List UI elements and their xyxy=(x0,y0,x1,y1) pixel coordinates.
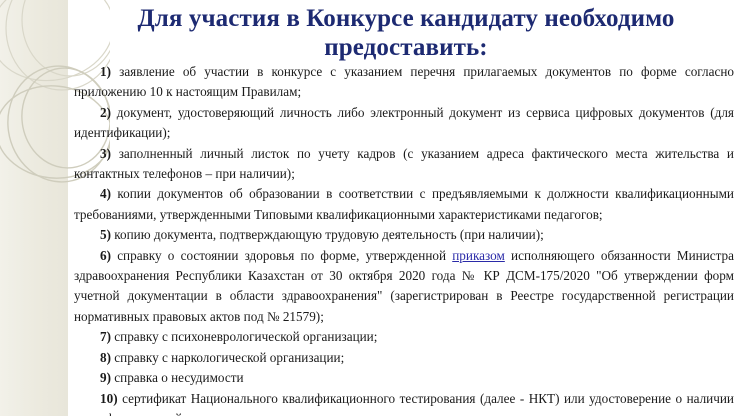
slide-title: Для участия в Конкурсе кандидату необход… xyxy=(96,4,716,62)
item-text: справку с наркологической организации; xyxy=(111,350,344,365)
item-text: справка о несудимости xyxy=(111,370,244,385)
title-line-1: Для участия в Конкурсе кандидату необход… xyxy=(96,4,716,33)
item-number: 1) xyxy=(100,64,111,79)
item-number: 8) xyxy=(100,350,111,365)
item-text: копии документов об образовании в соотве… xyxy=(74,186,734,221)
title-line-2: предоставить: xyxy=(96,33,716,62)
list-item: 2) документ, удостоверяющий личность либ… xyxy=(74,103,734,144)
item-text: копию документа, подтверждающую трудовую… xyxy=(111,227,544,242)
item-text: документ, удостоверяющий личность либо э… xyxy=(74,105,734,140)
item-text: заполненный личный листок по учету кадро… xyxy=(74,146,734,181)
item-number: 2) xyxy=(100,105,111,120)
presentation-slide: Для участия в Конкурсе кандидату необход… xyxy=(0,0,739,416)
list-item: 4) копии документов об образовании в соо… xyxy=(74,184,734,225)
list-item: 10) сертификат Национального квалификаци… xyxy=(74,389,734,416)
item-number: 3) xyxy=(100,146,111,161)
list-item: 6) справку о состоянии здоровья по форме… xyxy=(74,246,734,328)
list-item: 5) копию документа, подтверждающую трудо… xyxy=(74,225,734,245)
item-number: 10) xyxy=(100,391,118,406)
list-item: 9) справка о несудимости xyxy=(74,368,734,388)
item-number: 7) xyxy=(100,329,111,344)
item-text: справку с психоневрологической организац… xyxy=(111,329,377,344)
item-number: 6) xyxy=(100,248,111,263)
list-item: 3) заполненный личный листок по учету ка… xyxy=(74,144,734,185)
list-item: 1) заявление об участии в конкурсе с ука… xyxy=(74,62,734,103)
decorative-side-band xyxy=(0,0,68,416)
item-number: 4) xyxy=(100,186,111,201)
list-item: 8) справку с наркологической организации… xyxy=(74,348,734,368)
item-number: 5) xyxy=(100,227,111,242)
item-text: сертификат Национального квалификационно… xyxy=(74,391,734,416)
list-item: 7) справку с психоневрологической органи… xyxy=(74,327,734,347)
prikazom-link[interactable]: приказом xyxy=(452,248,505,263)
item-text: заявление об участии в конкурсе с указан… xyxy=(74,64,734,99)
requirements-list: 1) заявление об участии в конкурсе с ука… xyxy=(74,62,734,416)
item-text-before-link: справку о состоянии здоровья по форме, у… xyxy=(111,248,452,263)
item-number: 9) xyxy=(100,370,111,385)
